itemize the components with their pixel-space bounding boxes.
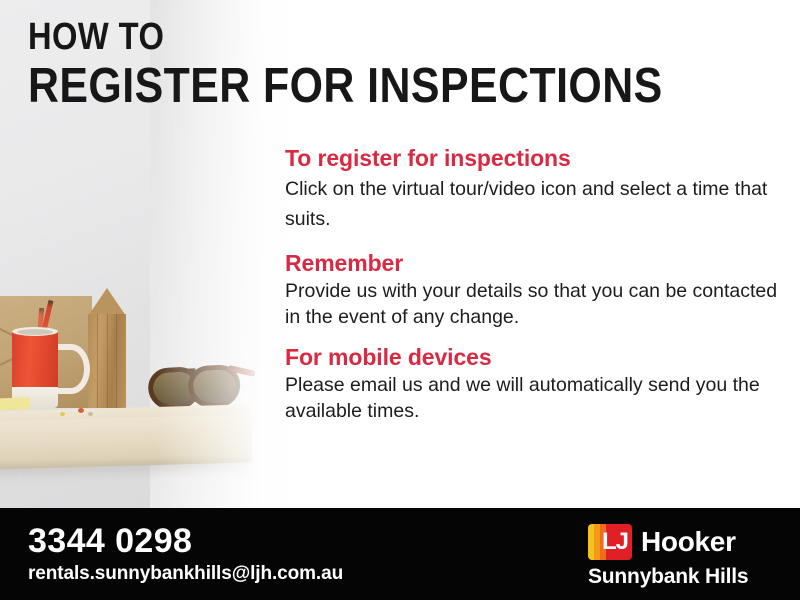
page-title: REGISTER FOR INSPECTIONS [28, 62, 663, 111]
logo-wordmark: Hooker [641, 528, 736, 556]
instruction-section: Remember Provide us with your details so… [285, 251, 785, 331]
logo-office-name: Sunnybank Hills [588, 566, 748, 587]
instruction-section: To register for inspections Click on the… [285, 146, 785, 234]
section-text: Please email us and we will automaticall… [285, 373, 785, 425]
logo-lockup: LJ Hooker [588, 524, 736, 560]
email-address[interactable]: rentals.sunnybankhills@ljh.com.au [28, 564, 343, 583]
section-text: Provide us with your details so that you… [285, 279, 785, 331]
section-heading: For mobile devices [285, 345, 785, 370]
poster-canvas: HOW TO REGISTER FOR INSPECTIONS To regis… [0, 0, 800, 600]
lj-hooker-mark-icon: LJ [588, 524, 632, 560]
section-heading: Remember [285, 251, 785, 276]
instruction-section: For mobile devices Please email us and w… [285, 345, 785, 425]
section-heading: To register for inspections [285, 146, 785, 171]
lj-hooker-logo[interactable]: LJ Hooker Sunnybank Hills [588, 524, 788, 588]
phone-number[interactable]: 3344 0298 [28, 524, 192, 558]
section-text: Click on the virtual tour/video icon and… [285, 174, 785, 234]
header: HOW TO REGISTER FOR INSPECTIONS [0, 0, 800, 120]
header-kicker: HOW TO [28, 18, 164, 56]
instructions-body: To register for inspections Click on the… [285, 146, 785, 435]
logo-monogram: LJ [601, 527, 629, 557]
